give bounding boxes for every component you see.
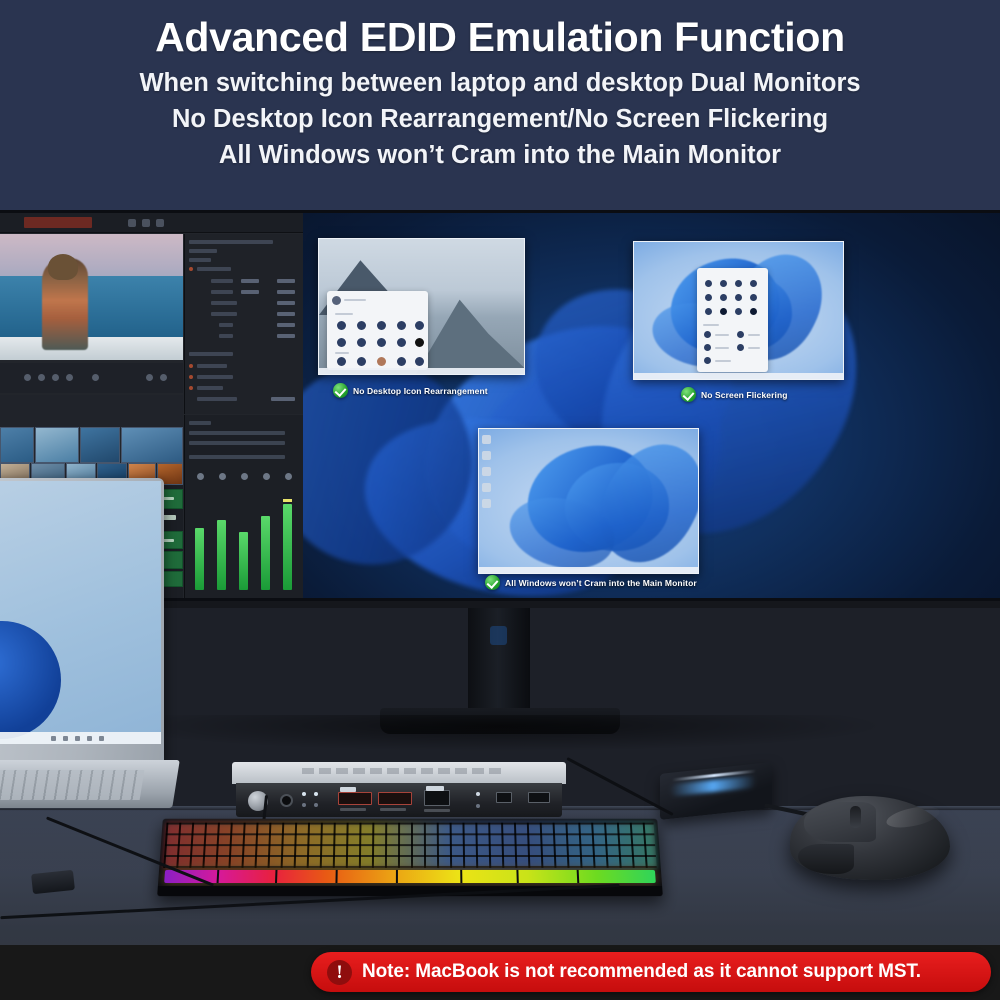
screenshot-thumbnail-1	[318, 238, 525, 375]
kvm-switch-box	[228, 762, 570, 822]
exclamation-circle-icon: !	[327, 960, 352, 985]
laptop-keyboard	[0, 770, 144, 800]
product-marketing-image: Advanced EDID Emulation Function When sw…	[0, 0, 1000, 1000]
callout-2-label: No Screen Flickering	[701, 390, 788, 400]
note-banner: ! Note: MacBook is not recommended as it…	[311, 952, 991, 992]
green-check-icon	[485, 575, 500, 590]
laptop-lid	[0, 478, 164, 763]
kvm-brand-text	[302, 768, 502, 774]
keyboard-keys	[163, 823, 657, 868]
editor-toolbar	[0, 213, 303, 233]
keyboard-bottom-row-rgb	[164, 870, 656, 883]
monitor-stand-neck	[468, 608, 530, 716]
laptop-screen	[0, 481, 161, 744]
thumb3-wallpaper	[479, 429, 698, 573]
laptop-wallpaper-shape	[0, 621, 61, 739]
editor-media-pool	[0, 395, 183, 431]
header-subtitle-3: All Windows won’t Cram into the Main Mon…	[219, 139, 781, 173]
laptop-taskbar	[0, 732, 161, 744]
preview-shore	[0, 337, 183, 360]
kvm-port[interactable]	[528, 792, 550, 803]
callout-3-label: All Windows won’t Cram into the Main Mon…	[505, 578, 697, 588]
editor-toolbar-icon	[156, 219, 164, 227]
editor-toolbar-icon	[142, 219, 150, 227]
callout-1-label: No Desktop Icon Rearrangement	[353, 386, 488, 396]
laptop	[0, 478, 191, 808]
mouse-scroll-wheel	[850, 806, 861, 828]
header-subtitle-1: When switching between laptop and deskto…	[139, 67, 860, 101]
monitor-brand-logo	[490, 626, 507, 645]
thumb1-taskbar	[319, 368, 524, 374]
preview-sky	[0, 234, 183, 276]
video-preview	[0, 234, 183, 360]
screenshot-thumbnail-2	[633, 241, 844, 380]
monitor-shadow	[120, 715, 880, 751]
callout-3: All Windows won’t Cram into the Main Mon…	[485, 575, 697, 590]
green-check-icon	[681, 387, 696, 402]
product-scene-photo: No Desktop Icon Rearrangement	[0, 210, 1000, 945]
editor-clip-thumbnails	[0, 427, 183, 485]
editor-audio-mixer	[184, 415, 303, 598]
kvm-usb-port[interactable]	[338, 792, 372, 805]
editor-transport-controls	[0, 363, 183, 393]
green-check-icon	[333, 383, 348, 398]
kvm-port[interactable]	[496, 792, 512, 803]
editor-toolbar-icon	[128, 219, 136, 227]
thumb3-taskbar	[479, 567, 698, 573]
page-title: Advanced EDID Emulation Function	[155, 14, 845, 61]
preview-sea	[0, 276, 183, 344]
mouse-left-button	[804, 802, 876, 842]
thumb2-taskbar	[634, 373, 843, 379]
editor-inspector-panel	[184, 234, 303, 414]
header-banner: Advanced EDID Emulation Function When sw…	[0, 0, 1000, 210]
thumb1-start-menu	[327, 291, 428, 370]
header-subtitle-2: No Desktop Icon Rearrangement/No Screen …	[172, 103, 828, 137]
editor-project-title-bar	[24, 217, 92, 228]
ergonomic-mouse	[790, 788, 950, 884]
kvm-hdmi-port[interactable]	[424, 790, 450, 806]
windows-desktop: No Desktop Icon Rearrangement	[303, 213, 1000, 598]
kvm-top-shell	[232, 762, 566, 784]
mouse-thumb-rest	[798, 844, 854, 874]
kvm-usb-port[interactable]	[378, 792, 412, 805]
note-text: Note: MacBook is not recommended as it c…	[362, 961, 921, 983]
kvm-audio-jack[interactable]	[280, 794, 293, 807]
usb-hub-dock	[660, 762, 780, 824]
callout-1: No Desktop Icon Rearrangement	[333, 383, 488, 398]
callout-2: No Screen Flickering	[681, 387, 788, 402]
screenshot-thumbnail-3	[478, 428, 699, 574]
preview-subject-hair	[48, 254, 78, 280]
thumb2-start-menu	[697, 268, 768, 372]
